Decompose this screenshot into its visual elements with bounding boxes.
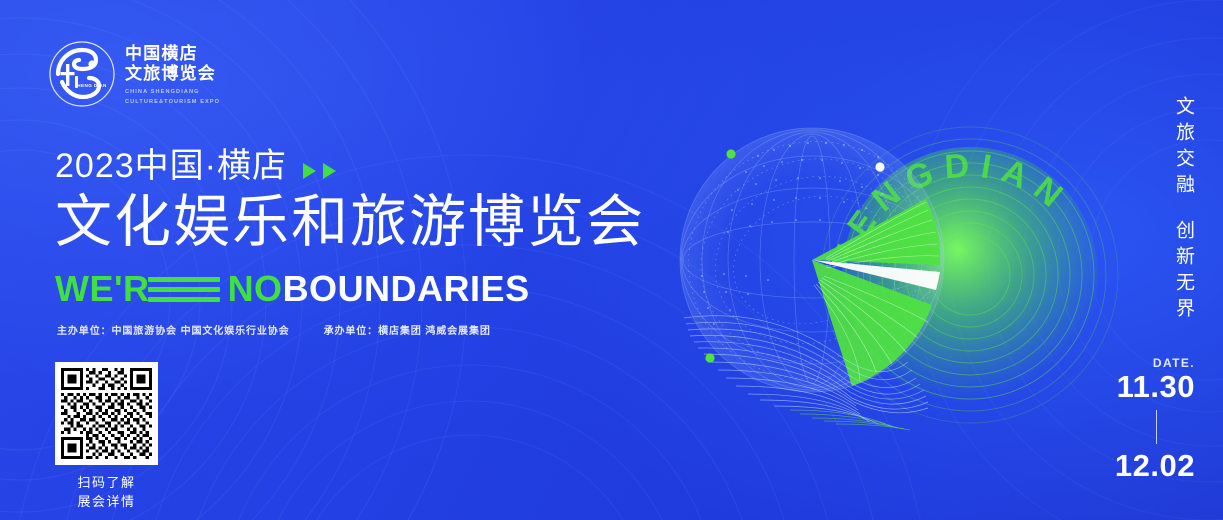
slogan-line1: 文旅交融 xyxy=(1174,96,1193,200)
logo-en-line1: CHINA SHENGDIANG xyxy=(125,88,220,97)
node-dot-green-top xyxy=(726,149,735,158)
tagline-green-part1: WE'R xyxy=(55,268,150,310)
date-start: 11.30 xyxy=(1115,371,1195,404)
slogan-line2: 创新无界 xyxy=(1174,220,1193,324)
node-dot-green-bottom xyxy=(705,353,714,362)
qr-code[interactable] xyxy=(55,362,158,465)
brand-logo: HENG DIAN 中国横店 文旅博览会 CHINA SHENGDIANG CU… xyxy=(48,40,220,108)
organizers-line: 主办单位：中国旅游协会 中国文化娱乐行业协会承办单位：横店集团 鸿威会展集团 xyxy=(57,322,491,337)
qr-caption-line1: 扫码了解 xyxy=(55,474,158,493)
tagline-white-part: BOUNDARIES xyxy=(283,268,530,310)
date-separator xyxy=(1156,410,1157,444)
date-end: 12.02 xyxy=(1115,450,1195,483)
page-title: 文化娱乐和旅游博览会 xyxy=(55,191,645,255)
headline-block: 2023中国·横店 文化娱乐和旅游博览会 WE'R NO BOUNDARIES xyxy=(55,148,645,310)
double-triangle-icon xyxy=(303,155,336,179)
host-value: 中国旅游协会 中国文化娱乐行业协会 xyxy=(112,326,290,337)
logo-cn-line1: 中国横店 xyxy=(125,44,220,64)
date-block: DATE. 11.30 12.02 xyxy=(1115,356,1195,482)
organizer-value: 横店集团 鸿威会展集团 xyxy=(378,326,491,337)
host-label: 主办单位： xyxy=(57,326,112,337)
year-city-text: 2023中国·横店 xyxy=(55,148,287,185)
vertical-slogan: 文旅交融 创新无界 xyxy=(1174,96,1193,324)
logo-cn-line2: 文旅博览会 xyxy=(125,64,220,84)
node-dot-white xyxy=(875,162,884,171)
organizer-label: 承办单位： xyxy=(324,326,379,337)
tagline: WE'R NO BOUNDARIES xyxy=(55,268,645,310)
event-banner: HENG DIAN 中国横店 文旅博览会 CHINA SHENGDIANG CU… xyxy=(0,0,1223,520)
svg-text:HENG DIAN: HENG DIAN xyxy=(77,83,107,88)
year-city-row: 2023中国·横店 xyxy=(55,148,645,185)
hengdian-expo-emblem-icon: HENG DIAN xyxy=(48,40,116,108)
qr-block: 扫码了解 展会详情 xyxy=(55,362,158,512)
e-bars-icon xyxy=(148,277,220,302)
qr-caption-line2: 展会详情 xyxy=(55,493,158,512)
tagline-green-part2: NO xyxy=(228,268,283,310)
qr-caption: 扫码了解 展会详情 xyxy=(55,474,158,512)
logo-en-line2: CULTURE&TOURISM EXPO xyxy=(125,98,220,107)
date-label: DATE. xyxy=(1115,356,1195,370)
logo-text-block: 中国横店 文旅博览会 CHINA SHENGDIANG CULTURE&TOUR… xyxy=(125,42,220,107)
abstract-data-sphere-graphic: HENGDIAN xyxy=(640,80,1160,450)
